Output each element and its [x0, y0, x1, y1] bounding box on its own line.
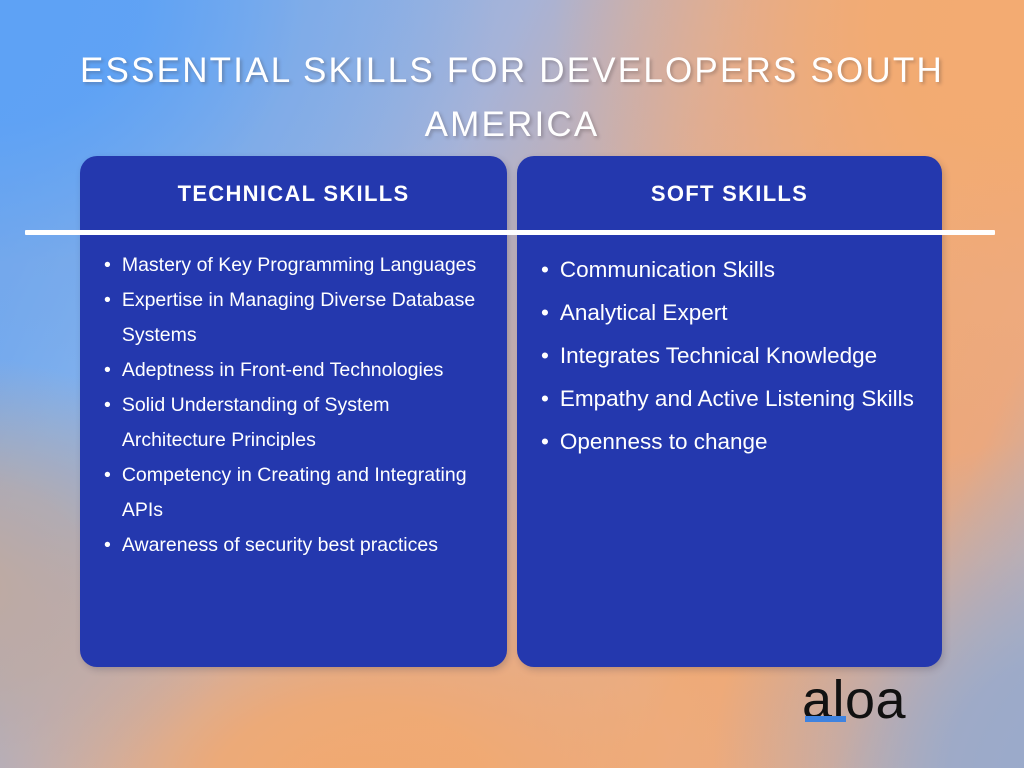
- list-item-label: Openness to change: [560, 420, 928, 463]
- bullet-dot-icon: •: [541, 420, 549, 463]
- list-item: • Solid Understanding of System Architec…: [104, 388, 491, 458]
- bullet-dot-icon: •: [104, 528, 111, 563]
- list-item-label: Competency in Creating and Integrating A…: [122, 458, 491, 528]
- list-item-label: Awareness of security best practices: [122, 528, 491, 563]
- list-item-label: Solid Understanding of System Architectu…: [122, 388, 491, 458]
- technical-skills-list: • Mastery of Key Programming Languages •…: [80, 248, 507, 563]
- bullet-dot-icon: •: [104, 353, 111, 388]
- list-item: • Awareness of security best practices: [104, 528, 491, 563]
- list-item: • Adeptness in Front-end Technologies: [104, 353, 491, 388]
- card-technical-header: TECHNICAL SKILLS: [80, 156, 507, 232]
- list-item: • Integrates Technical Knowledge: [541, 334, 928, 377]
- list-item-label: Empathy and Active Listening Skills: [560, 377, 928, 420]
- bullet-dot-icon: •: [541, 291, 549, 334]
- header-divider-rule: [25, 230, 995, 235]
- card-soft-header: SOFT SKILLS: [517, 156, 942, 232]
- list-item: • Empathy and Active Listening Skills: [541, 377, 928, 420]
- list-item: • Expertise in Managing Diverse Database…: [104, 283, 491, 353]
- list-item-label: Expertise in Managing Diverse Database S…: [122, 283, 491, 353]
- card-technical-header-label: TECHNICAL SKILLS: [178, 181, 410, 207]
- list-item: • Mastery of Key Programming Languages: [104, 248, 491, 283]
- list-item: • Competency in Creating and Integrating…: [104, 458, 491, 528]
- infographic-canvas: ESSENTIAL SKILLS FOR DEVELOPERS SOUTH AM…: [0, 0, 1024, 768]
- soft-skills-list: • Communication Skills • Analytical Expe…: [517, 248, 942, 463]
- page-title: ESSENTIAL SKILLS FOR DEVELOPERS SOUTH AM…: [62, 44, 962, 152]
- bullet-dot-icon: •: [541, 248, 549, 291]
- aloa-logo: aloa: [802, 672, 922, 730]
- bullet-dot-icon: •: [541, 377, 549, 420]
- list-item-label: Communication Skills: [560, 248, 928, 291]
- list-item: • Analytical Expert: [541, 291, 928, 334]
- list-item-label: Adeptness in Front-end Technologies: [122, 353, 491, 388]
- bullet-dot-icon: •: [104, 458, 111, 493]
- aloa-logo-underline: [805, 716, 846, 722]
- list-item: • Communication Skills: [541, 248, 928, 291]
- bullet-dot-icon: •: [104, 388, 111, 423]
- bullet-dot-icon: •: [104, 283, 111, 318]
- bullet-dot-icon: •: [541, 334, 549, 377]
- list-item-label: Analytical Expert: [560, 291, 928, 334]
- list-item-label: Integrates Technical Knowledge: [560, 334, 928, 377]
- list-item: • Openness to change: [541, 420, 928, 463]
- bullet-dot-icon: •: [104, 248, 111, 283]
- list-item-label: Mastery of Key Programming Languages: [122, 248, 491, 283]
- card-soft-header-label: SOFT SKILLS: [651, 181, 808, 207]
